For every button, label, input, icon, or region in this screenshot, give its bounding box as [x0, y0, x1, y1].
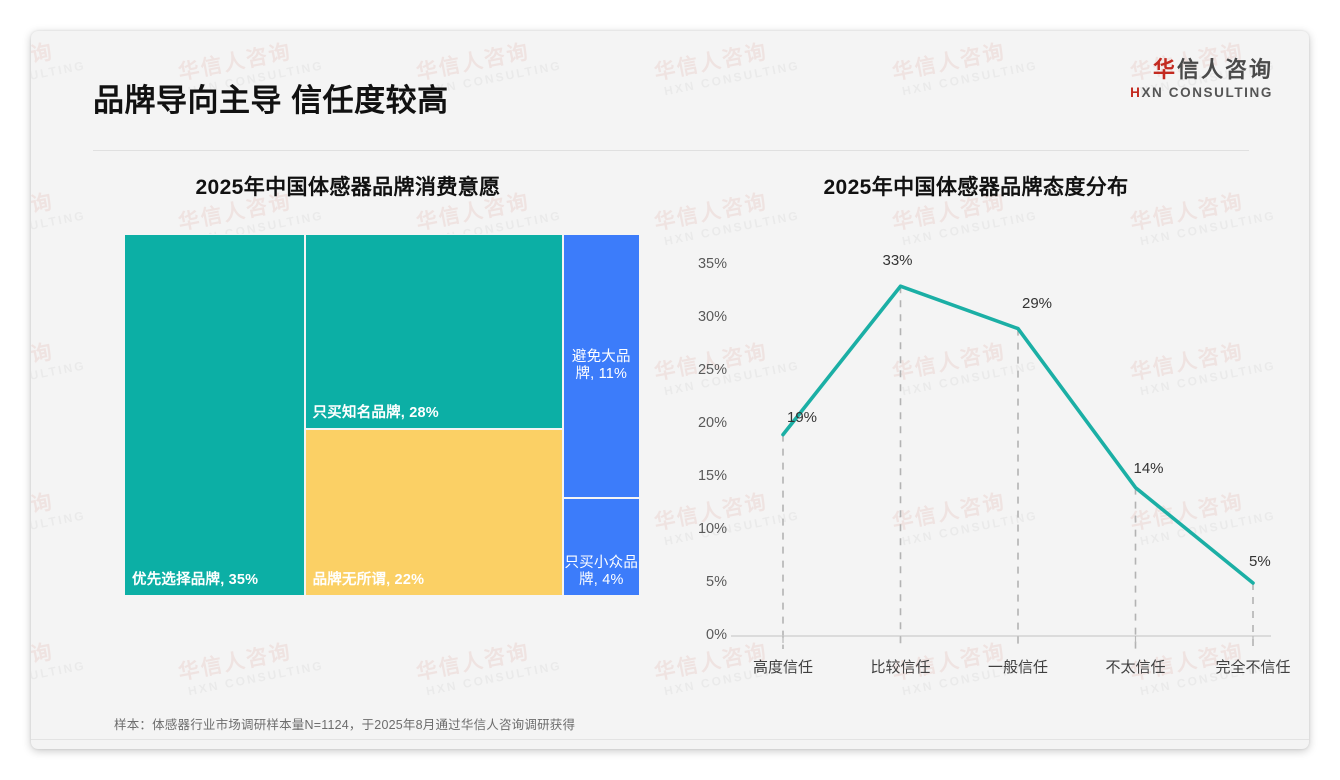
company-logo: 华信人咨询 HXN CONSULTING	[1130, 57, 1273, 100]
header-divider	[93, 150, 1249, 151]
x-axis-category-label: 一般信任	[953, 656, 1083, 677]
x-axis-category-label: 比较信任	[836, 656, 966, 677]
line-chart-panel: 2025年中国体感器品牌态度分布 0%5%10%15%20%25%30%35%高…	[671, 171, 1281, 671]
data-point-label: 5%	[1249, 553, 1271, 570]
y-axis-tick-label: 15%	[673, 468, 727, 484]
y-axis-tick-label: 0%	[673, 627, 727, 643]
marimekko-plot-area: 优先选择品牌, 35%只买知名品牌, 28%品牌无所谓, 22%避免大品牌, 1…	[124, 234, 640, 596]
marimekko-cell[interactable]: 优先选择品牌, 35%	[124, 234, 305, 596]
source-footnote: 样本：体感器行业市场调研样本量N=1124，于2025年8月通过华信人咨询调研获…	[114, 714, 575, 733]
marimekko-cell-label: 避免大品牌, 11%	[564, 349, 639, 383]
marimekko-cell-label: 只买小众品牌, 4%	[564, 555, 639, 589]
data-point-label: 14%	[1134, 460, 1164, 477]
logo-en-rest: XN CONSULTING	[1141, 85, 1273, 100]
logo-cn-accent: 华	[1153, 57, 1177, 82]
slide-header: 品牌导向主导 信任度较高 华信人咨询 HXN CONSULTING	[31, 31, 1309, 123]
data-point-label: 29%	[1022, 295, 1052, 312]
marimekko-column: 优先选择品牌, 35%	[124, 234, 305, 596]
line-chart-svg	[671, 231, 1281, 671]
data-point-label: 33%	[883, 252, 913, 269]
marimekko-cell-label: 优先选择品牌, 35%	[132, 572, 299, 589]
page-title: 品牌导向主导 信任度较高	[93, 75, 449, 120]
marimekko-column: 只买知名品牌, 28%品牌无所谓, 22%	[305, 234, 563, 596]
data-point-label: 19%	[787, 409, 817, 426]
logo-english: HXN CONSULTING	[1130, 85, 1273, 100]
footer-copyright: ©2025.10 HXR华信人咨询	[93, 748, 234, 749]
marimekko-chart-panel: 2025年中国体感器品牌消费意愿 优先选择品牌, 35%只买知名品牌, 28%品…	[63, 171, 633, 671]
line-plot-area: 0%5%10%15%20%25%30%35%高度信任比较信任一般信任不太信任完全…	[671, 231, 1281, 671]
marimekko-cell-label: 只买知名品牌, 28%	[313, 405, 557, 422]
marimekko-cell-label: 品牌无所谓, 22%	[313, 572, 557, 589]
marimekko-chart-title: 2025年中国体感器品牌消费意愿	[63, 171, 633, 201]
marimekko-cell[interactable]: 只买小众品牌, 4%	[563, 498, 640, 596]
marimekko-column: 避免大品牌, 11%只买小众品牌, 4%	[563, 234, 640, 596]
y-axis-tick-label: 20%	[673, 415, 727, 431]
y-axis-tick-label: 10%	[673, 521, 727, 537]
line-chart-title: 2025年中国体感器品牌态度分布	[671, 171, 1281, 201]
logo-cn-rest: 信人咨询	[1177, 57, 1273, 82]
marimekko-cell[interactable]: 只买知名品牌, 28%	[305, 234, 563, 429]
x-axis-category-label: 不太信任	[1071, 656, 1201, 677]
footer-website: www.hxrcon.com	[1160, 748, 1251, 749]
logo-en-accent: H	[1130, 85, 1141, 100]
logo-chinese: 华信人咨询	[1130, 57, 1273, 82]
y-axis-tick-label: 5%	[673, 574, 727, 590]
line-series[interactable]	[783, 286, 1253, 583]
x-axis-category-label: 高度信任	[718, 656, 848, 677]
slide-card: 华信人咨询HXN CONSULTING华信人咨询HXN CONSULTING华信…	[31, 31, 1309, 749]
y-axis-tick-label: 35%	[673, 256, 727, 272]
y-axis-tick-label: 25%	[673, 362, 727, 378]
marimekko-cell[interactable]: 避免大品牌, 11%	[563, 234, 640, 498]
x-axis-category-label: 完全不信任	[1188, 656, 1309, 677]
y-axis-tick-label: 30%	[673, 309, 727, 325]
marimekko-cell[interactable]: 品牌无所谓, 22%	[305, 429, 563, 596]
footer-divider	[31, 739, 1309, 740]
